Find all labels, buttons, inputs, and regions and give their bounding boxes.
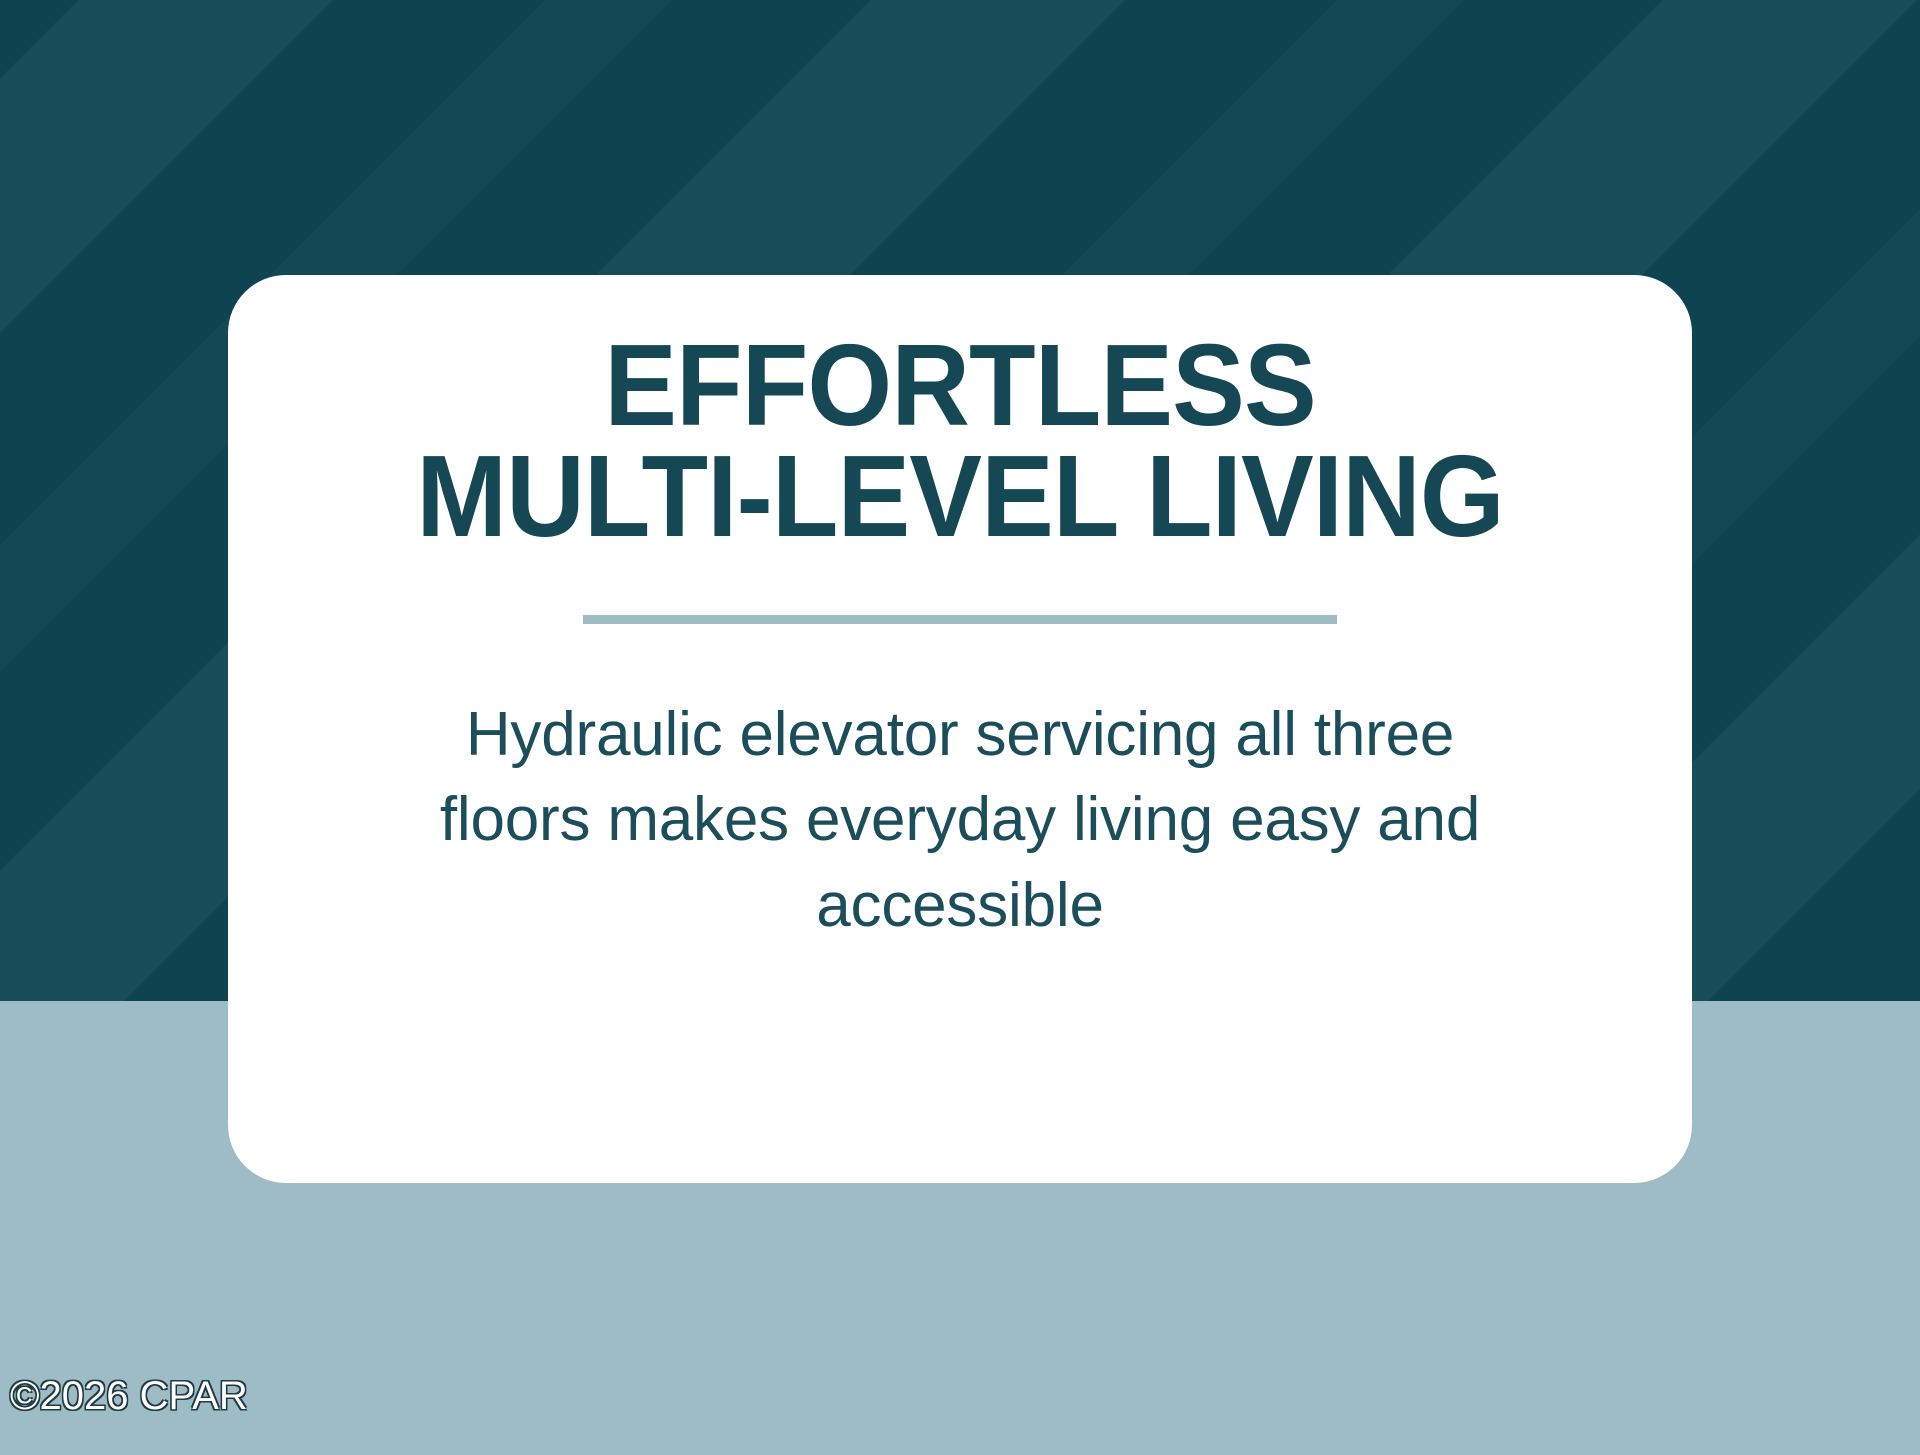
- copyright-watermark: ©2026 CPAR: [10, 1376, 248, 1416]
- headline-line-1: EFFORTLESS: [272, 330, 1648, 441]
- content-card: EFFORTLESS MULTI-LEVEL LIVING Hydraulic …: [228, 275, 1692, 1183]
- headline-divider: [583, 615, 1337, 624]
- body-copy-line-3: accessible: [348, 863, 1572, 949]
- body-copy-line-2: floors makes everyday living easy and: [348, 777, 1572, 863]
- body-copy-line-1: Hydraulic elevator servicing all three: [348, 692, 1572, 778]
- headline-line-2: MULTI-LEVEL LIVING: [272, 441, 1648, 552]
- body-copy: Hydraulic elevator servicing all three f…: [228, 692, 1692, 949]
- slide-canvas: EFFORTLESS MULTI-LEVEL LIVING Hydraulic …: [0, 0, 1920, 1455]
